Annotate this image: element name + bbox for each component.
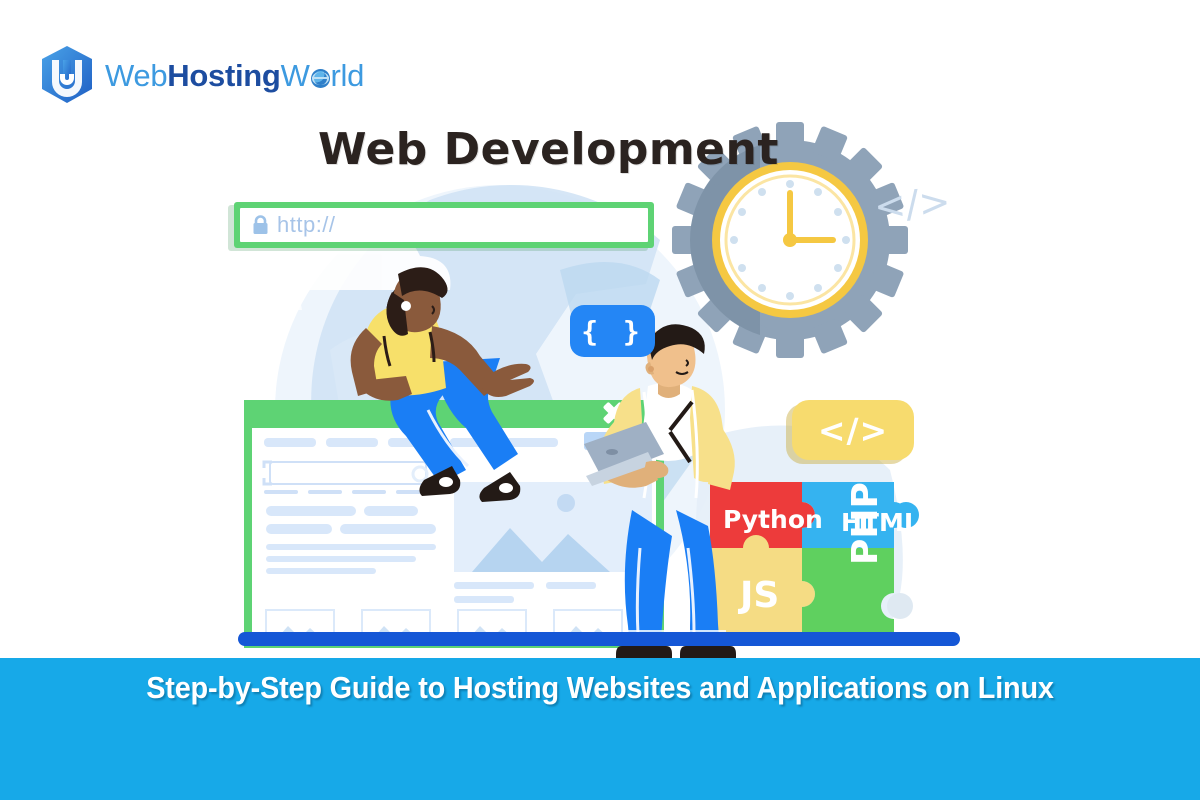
- curly-brace-badge: { }: [570, 305, 655, 357]
- brand-word-hosting: Hosting: [167, 58, 280, 93]
- padlock-icon: [252, 215, 269, 235]
- brand-logo[interactable]: WebHostingWrld: [38, 44, 364, 106]
- illustration-heading: Web Development: [318, 124, 779, 175]
- browser-wireframe: [244, 400, 664, 648]
- brand-word-web: Web: [105, 58, 167, 93]
- url-input-field[interactable]: http://: [240, 208, 648, 242]
- ground-bar: [238, 632, 960, 646]
- puzzle-piece-html: [802, 482, 907, 548]
- url-text-value: http://: [277, 212, 336, 238]
- url-address-bar[interactable]: http://: [234, 202, 654, 248]
- code-tag-badge: </>: [792, 400, 914, 460]
- hexagon-shield-w-icon: [38, 44, 96, 106]
- hero-illustration: Web Development http:// { } </> </> Pyth…: [0, 110, 1200, 658]
- banner-title-text: Step-by-Step Guide to Hosting Websites a…: [42, 670, 1158, 706]
- puzzle-piece-php: [802, 548, 894, 640]
- globe-o-icon: [311, 69, 330, 88]
- illustration-artwork: [0, 110, 1200, 658]
- brand-wordmark: WebHostingWrld: [105, 60, 364, 91]
- brand-word-world-w: W: [281, 58, 310, 93]
- bottom-title-banner: Step-by-Step Guide to Hosting Websites a…: [0, 658, 1200, 800]
- brand-word-world-rld: rld: [331, 58, 365, 93]
- code-tag-faint-icon: </>: [873, 179, 952, 228]
- puzzle-piece-js: [710, 535, 815, 640]
